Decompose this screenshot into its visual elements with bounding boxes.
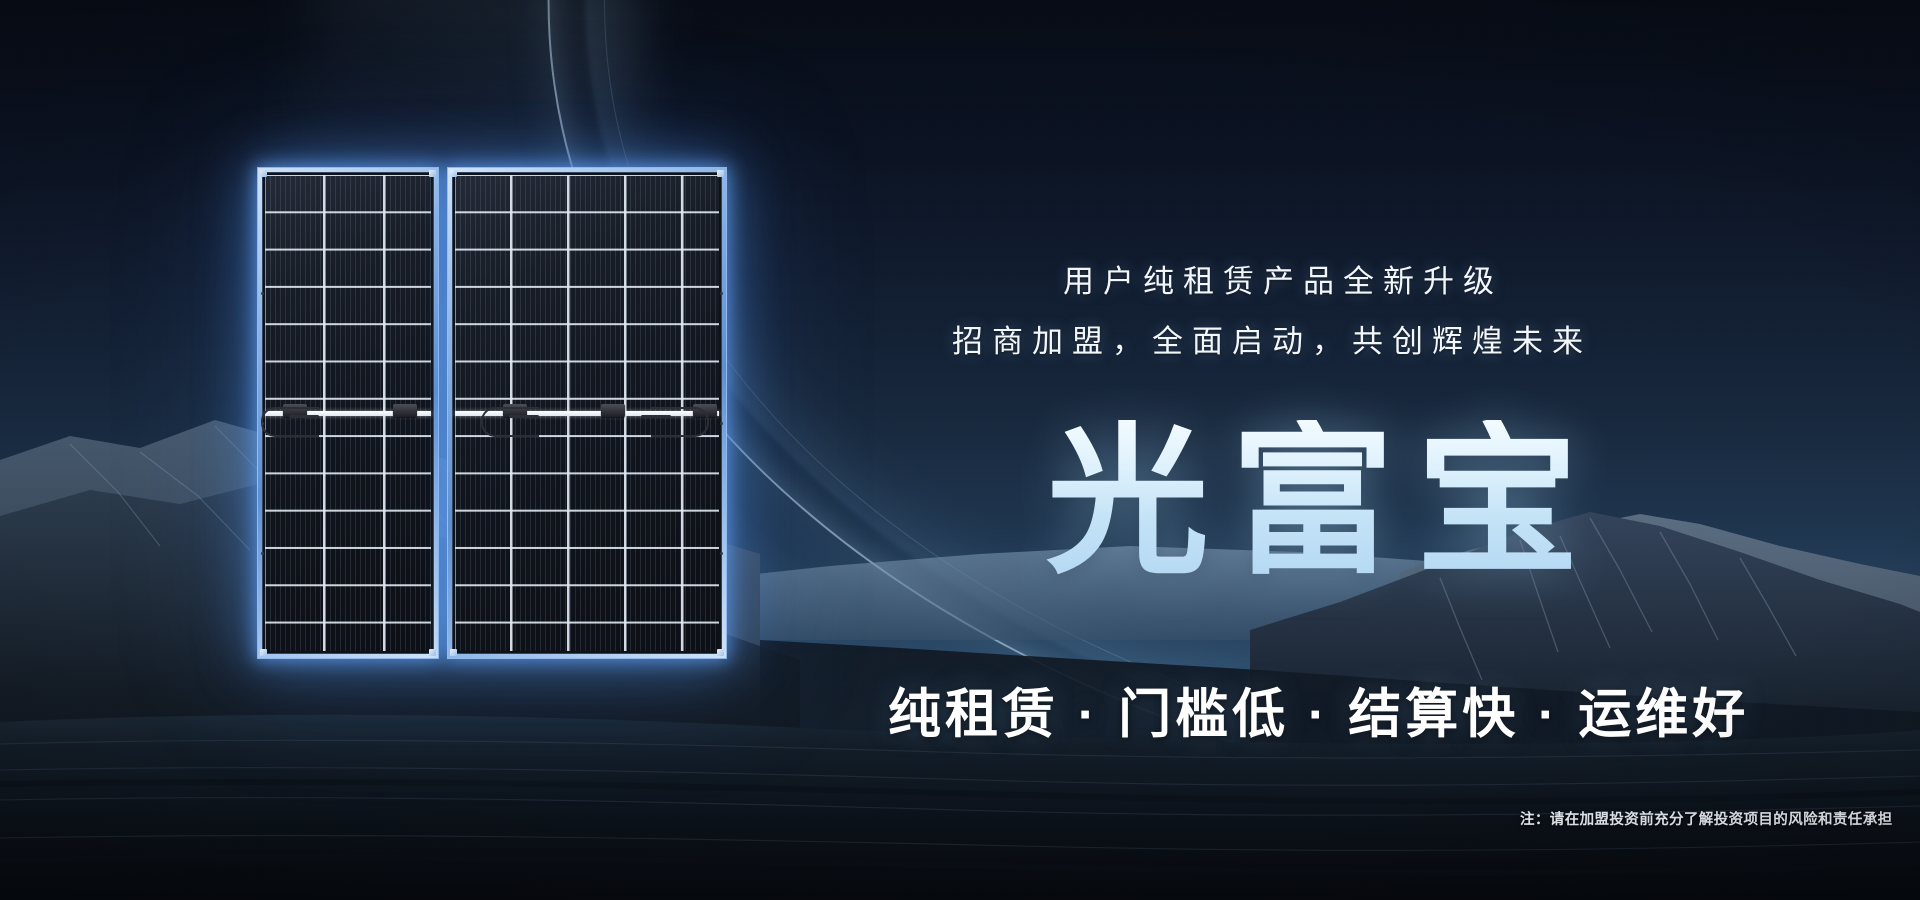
solar-module-right[interactable] xyxy=(448,168,726,658)
solar-panel[interactable] xyxy=(258,168,726,658)
mc4-cable-stub xyxy=(289,415,319,418)
frame-corner xyxy=(450,170,457,177)
frame-corner xyxy=(429,649,436,656)
mc4-cable-stub xyxy=(509,415,539,418)
junction-box xyxy=(601,404,625,417)
mc4-cable-stub xyxy=(641,415,671,418)
frame-corner xyxy=(260,649,267,656)
frame-screw xyxy=(261,422,264,425)
solar-cells-left xyxy=(265,175,431,651)
frame-screw xyxy=(261,292,264,295)
solar-module-left[interactable] xyxy=(258,168,438,658)
mc4-cable xyxy=(261,407,319,437)
disclaimer-note: 注：请在加盟投资前充分了解投资项目的风险和责任承担 xyxy=(1520,808,1893,829)
mc4-cable xyxy=(481,407,539,437)
frame-screw xyxy=(720,292,723,295)
frame-corner xyxy=(429,170,436,177)
frame-screw xyxy=(720,422,723,425)
promo-banner: 用户纯租赁产品全新升级 招商加盟，全面启动，共创辉煌未来 光富宝 纯租赁 · 门… xyxy=(0,0,1920,900)
frame-corner xyxy=(260,170,267,177)
frame-corner xyxy=(450,649,457,656)
frame-corner xyxy=(717,649,724,656)
tagline: 纯租赁 · 门槛低 · 结算快 · 运维好 xyxy=(888,672,1749,748)
solar-cells-right xyxy=(455,175,719,651)
headline-primary: 用户纯租赁产品全新升级 xyxy=(1063,256,1503,301)
brand-name: 光富宝 xyxy=(1046,420,1601,583)
mc4-cable xyxy=(651,407,709,437)
junction-box xyxy=(393,404,417,417)
frame-corner xyxy=(717,170,724,177)
headline-secondary: 招商加盟，全面启动，共创辉煌未来 xyxy=(952,316,1592,361)
frame-screw xyxy=(261,552,264,555)
frame-screw xyxy=(720,552,723,555)
